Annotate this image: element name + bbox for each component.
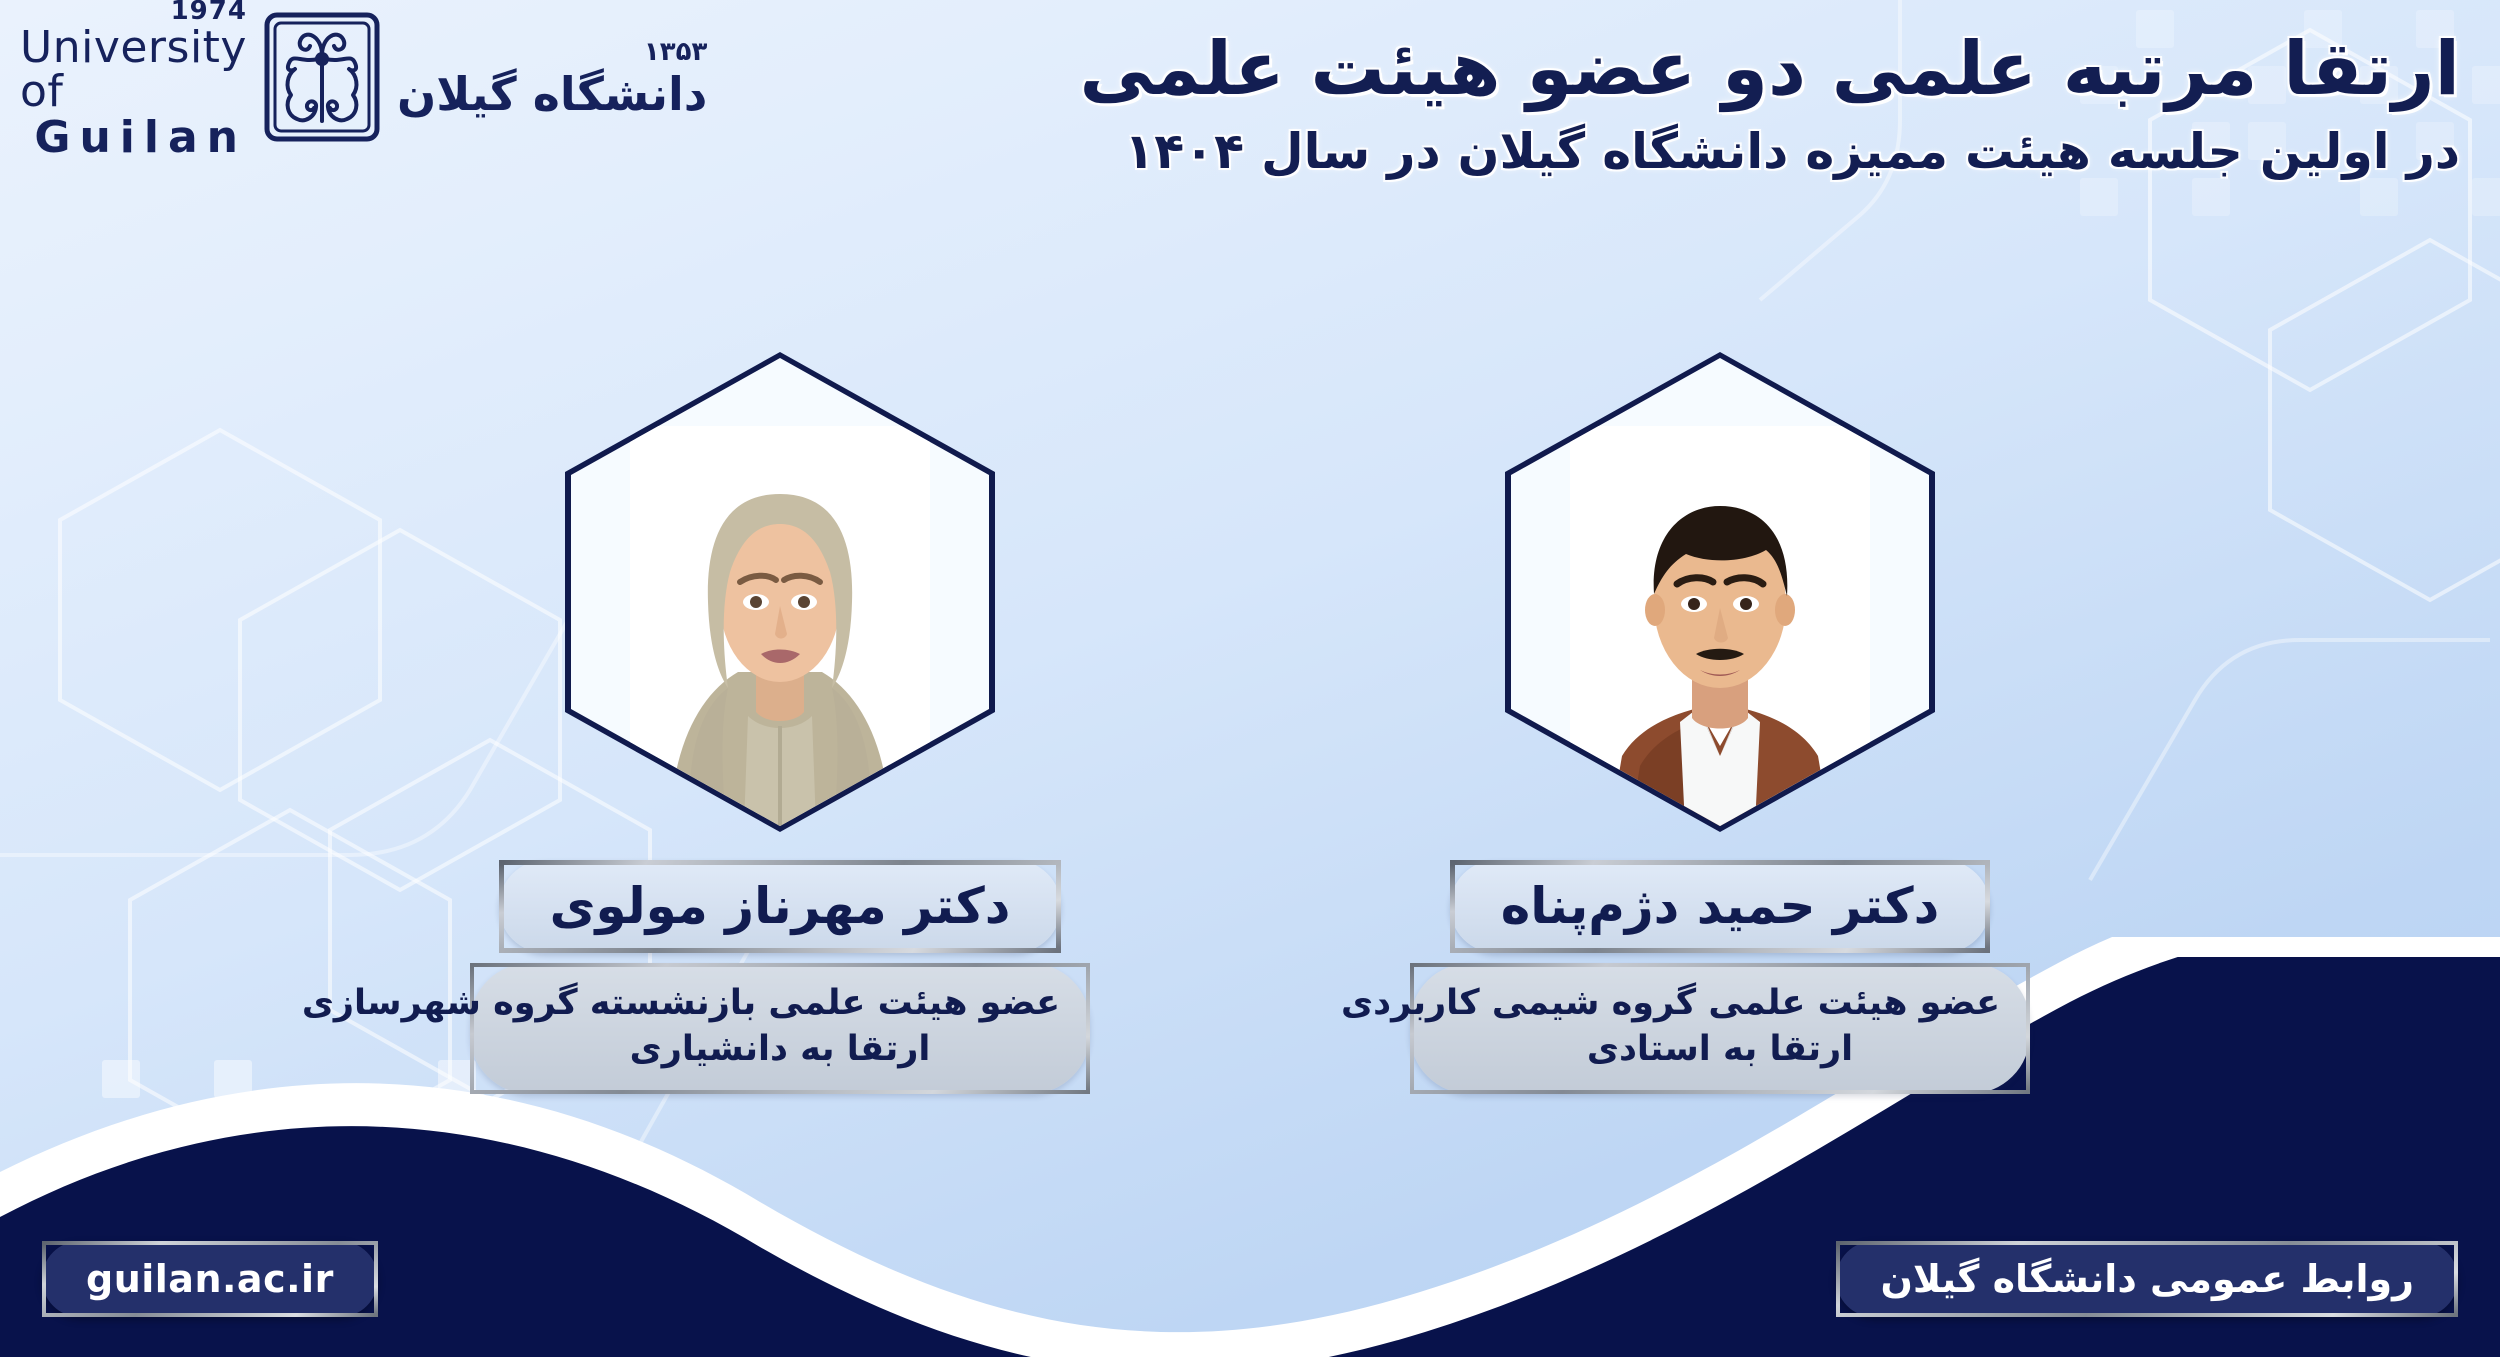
faculty-list: دکتر حمید دژم‌پناه عضو هیئت علمی گروه شی… <box>0 352 2500 1094</box>
portrait-photo <box>1511 358 1929 826</box>
portrait-photo <box>571 358 989 826</box>
faculty-role-badge: عضو هیئت علمی بازنشسته گروه شهرسازی ارتق… <box>470 963 1090 1094</box>
portrait-illustration <box>630 426 930 826</box>
faculty-name: دکتر مهرناز مولوی <box>550 879 1011 934</box>
faculty-promotion: ارتقا به دانشیاری <box>500 1027 1060 1073</box>
faculty-department: عضو هیئت علمی بازنشسته گروه شهرسازی <box>500 981 1060 1027</box>
portrait-mehrnaz-molavi <box>565 352 995 832</box>
website-badge[interactable]: guilan.ac.ir <box>42 1241 378 1317</box>
logo-university-name-fa: دانشگاه گیلان <box>397 67 707 121</box>
public-relations-badge: روابط عمومی دانشگاه گیلان <box>1836 1241 2458 1317</box>
page-title: ارتقا مرتبه علمی دو عضو هیئت علمی <box>700 26 2460 113</box>
portrait-hamid-dezhampanah <box>1505 352 1935 832</box>
logo-english-text: 1974 University of Guilan <box>20 0 247 160</box>
university-logo: 1974 University of Guilan ۱۳۵۳ دانشگاه گ… <box>20 14 470 144</box>
faculty-card: دکتر حمید دژم‌پناه عضو هیئت علمی گروه شی… <box>1400 352 2040 1094</box>
logo-guilan: Guilan <box>34 116 247 160</box>
public-relations-label: روابط عمومی دانشگاه گیلان <box>1880 1257 2414 1301</box>
faculty-name-badge: دکتر حمید دژم‌پناه <box>1450 860 1990 953</box>
faculty-role-badge: عضو هیئت علمی گروه شیمی کاربردی ارتقا به… <box>1410 963 2030 1094</box>
logo-persian-text: ۱۳۵۳ دانشگاه گیلان <box>397 37 707 121</box>
faculty-department: عضو هیئت علمی گروه شیمی کاربردی <box>1440 981 2000 1027</box>
logo-founding-year-en: 1974 <box>171 0 247 24</box>
logo-founding-year-fa: ۱۳۵۳ <box>644 37 707 67</box>
faculty-name: دکتر حمید دژم‌پناه <box>1501 879 1939 934</box>
headline-block: ارتقا مرتبه علمی دو عضو هیئت علمی در اول… <box>700 26 2460 182</box>
page-subtitle: در اولین جلسه هیئت ممیزه دانشگاه گیلان د… <box>700 123 2460 182</box>
faculty-card: دکتر مهرناز مولوی عضو هیئت علمی بازنشسته… <box>460 352 1100 1094</box>
faculty-name-badge: دکتر مهرناز مولوی <box>499 860 1062 953</box>
faculty-promotion: ارتقا به استادی <box>1440 1027 2000 1073</box>
guilan-butterfly-emblem-icon <box>263 11 381 147</box>
portrait-illustration <box>1570 426 1870 826</box>
website-url: guilan.ac.ir <box>86 1257 334 1301</box>
logo-university-of: University of <box>20 26 247 114</box>
announcement-poster: 1974 University of Guilan ۱۳۵۳ دانشگاه گ… <box>0 0 2500 1357</box>
